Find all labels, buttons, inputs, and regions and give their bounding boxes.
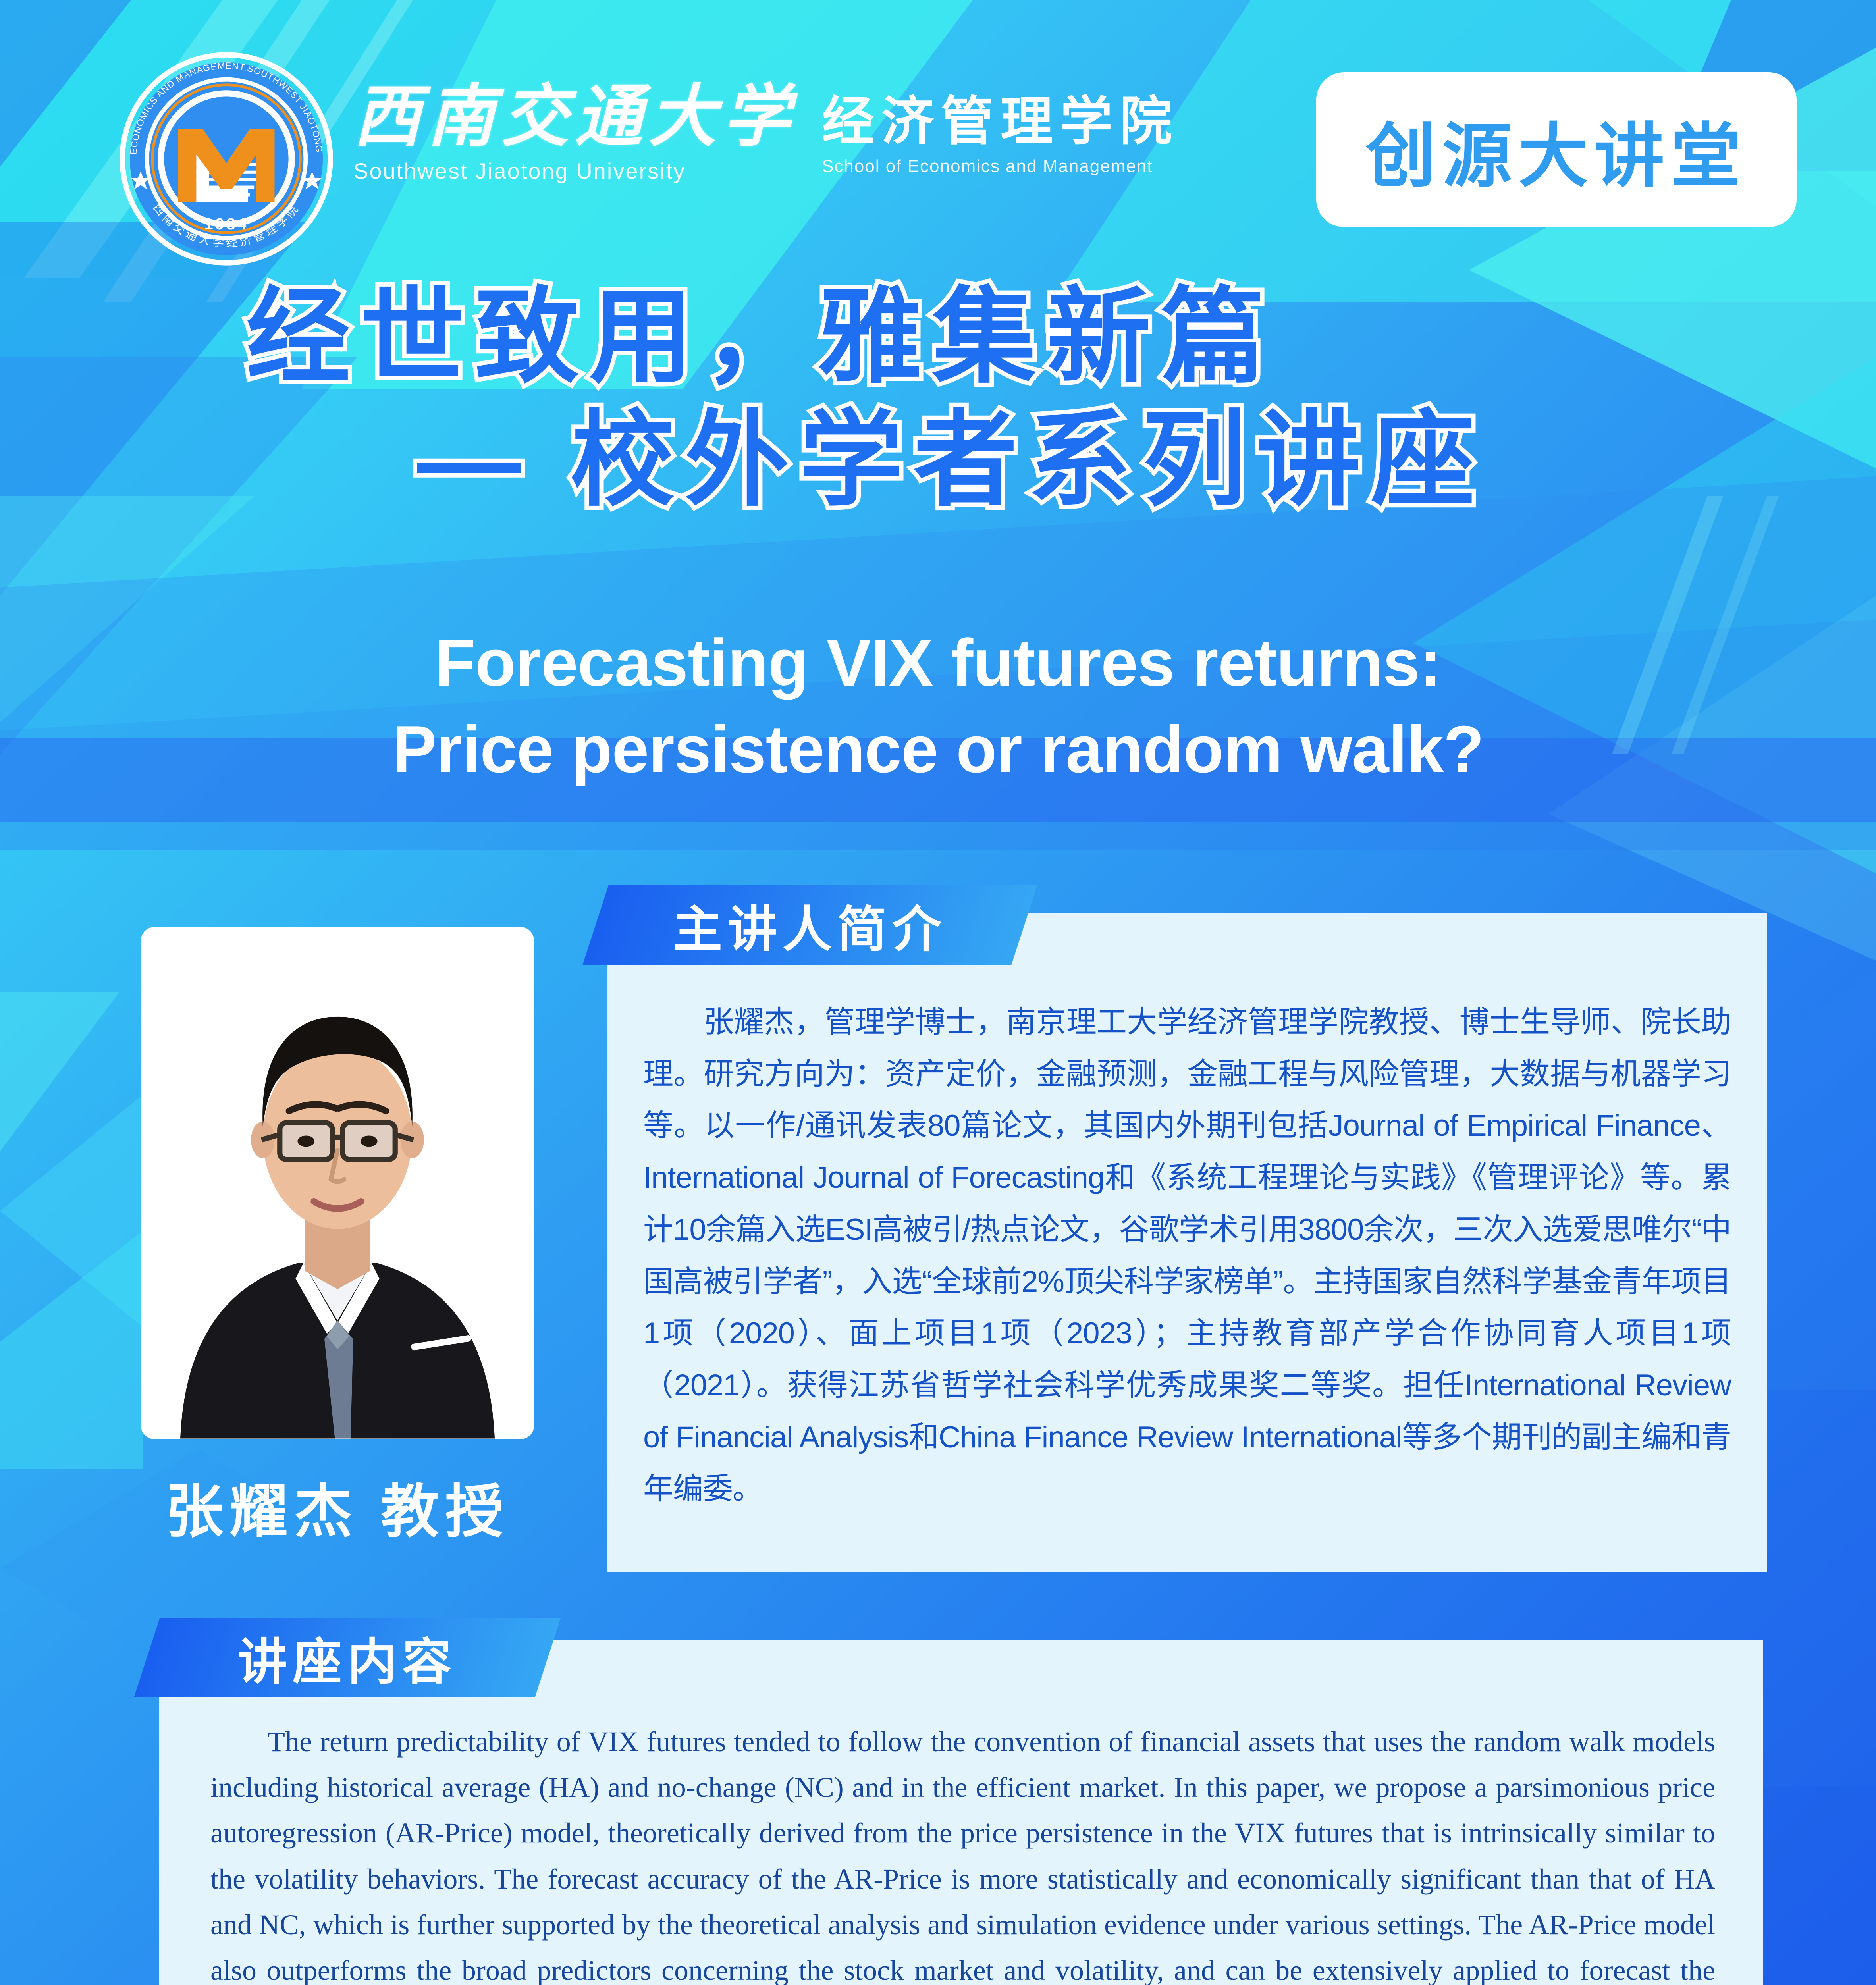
content-section-label: 讲座内容 — [238, 1622, 457, 1693]
university-name-en: Southwest Jiaotong University — [353, 158, 796, 184]
school-name-en: School of Economics and Management — [822, 156, 1179, 176]
university-name-cn: 西南交通大学 — [353, 83, 796, 151]
speaker-bio-text: 张耀杰，管理学博士，南京理工大学经济管理学院教授、博士生导师、院长助理。研究方向… — [643, 996, 1731, 1515]
svg-text:1984: 1984 — [204, 215, 249, 233]
abstract-text: The return predictability of VIX futures… — [210, 1719, 1715, 1985]
main-title-en-line1: Forecasting VIX futures returns: — [0, 619, 1876, 706]
speaker-name: 张耀杰 教授 — [141, 1465, 534, 1549]
school-name-cn: 经济管理学院 — [822, 95, 1179, 148]
poster-root: 1984 SCHOOL OF ECONOMICS AND MANAGEMENT.… — [0, 0, 1876, 1985]
university-crest-icon: 1984 SCHOOL OF ECONOMICS AND MANAGEMENT.… — [119, 52, 334, 266]
main-title-cn-line1: 经世致用，雅集新篇 — [246, 278, 1275, 397]
content-section-ribbon: 讲座内容 — [134, 1618, 561, 1697]
crest-svg: 1984 SCHOOL OF ECONOMICS AND MANAGEMENT.… — [119, 52, 334, 266]
speaker-photo — [141, 927, 534, 1439]
forum-badge: 创源大讲堂 — [1316, 72, 1797, 227]
main-title-en: Forecasting VIX futures returns: Price p… — [0, 619, 1876, 793]
school-name-block: 经济管理学院 School of Economics and Managemen… — [822, 95, 1179, 176]
forum-badge-label: 创源大讲堂 — [1366, 99, 1747, 200]
speaker-section-ribbon: 主讲人简介 — [583, 885, 1037, 965]
poster-header: 1984 SCHOOL OF ECONOMICS AND MANAGEMENT.… — [0, 0, 1876, 254]
main-title-en-line2: Price persistence or random walk? — [0, 706, 1876, 792]
speaker-section-label: 主讲人简介 — [673, 889, 947, 961]
speaker-portrait-svg — [141, 927, 534, 1439]
university-name-block: 西南交通大学 Southwest Jiaotong University — [353, 83, 796, 184]
main-title-cn-line2: — 校外学者系列讲座 — [417, 401, 1485, 520]
